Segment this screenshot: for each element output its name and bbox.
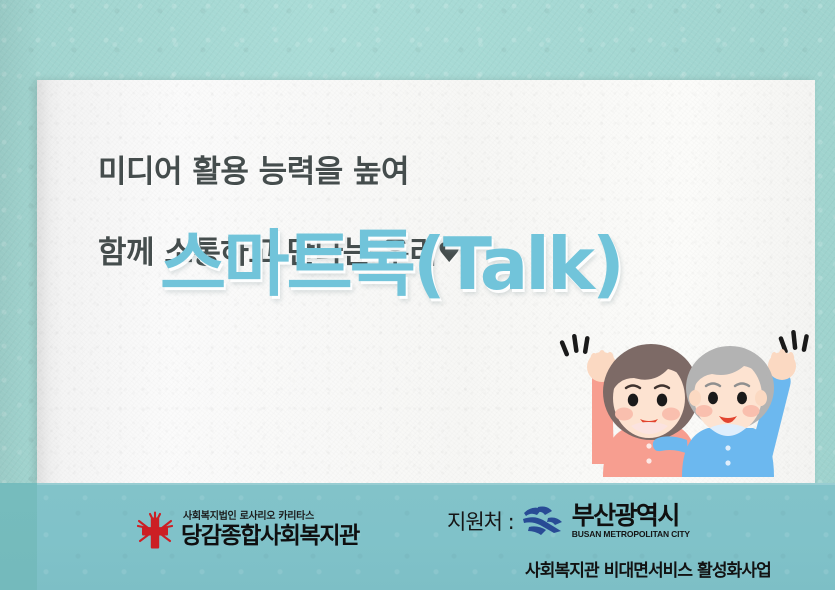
woman-cheek-right	[662, 408, 680, 421]
band-top-highlight	[0, 483, 835, 485]
excitement-lines-left	[559, 334, 590, 357]
man-cheek-left	[696, 405, 713, 417]
man-eye-left	[708, 392, 718, 404]
busan-name-en: BUSAN METROPOLITAN CITY	[572, 530, 690, 539]
woman-eye-right	[657, 394, 667, 407]
elderly-woman-figure	[587, 344, 699, 477]
busan-name-ko: 부산광역시	[572, 503, 690, 528]
sponsor-block: 지원처 : 부산광역시 BUSAN METROPOLITAN CITY	[447, 503, 690, 539]
organization-logo-text: 사회복지법인 로사리오 카리타스 당감종합사회복지관	[181, 512, 359, 548]
sponsor-label: 지원처 :	[447, 506, 514, 536]
poster-canvas: 미디어 활용 능력을 높여 함께 소통하고 만나는 우리♥ 스마트톡(Talk)	[0, 0, 835, 590]
caritas-cross-icon	[137, 511, 173, 549]
organization-name: 당감종합사회복지관	[181, 525, 359, 548]
woman-cheek-left	[615, 408, 633, 421]
organization-prefix: 사회복지법인 로사리오 카리타스	[181, 512, 359, 522]
man-eye-right	[737, 392, 747, 404]
page-title: 스마트톡(Talk)	[160, 228, 622, 300]
man-cheek-right	[743, 405, 760, 417]
program-tagline: 사회복지관 비대면서비스 활성화사업	[525, 556, 771, 581]
busan-city-text: 부산광역시 BUSAN METROPOLITAN CITY	[572, 503, 690, 539]
headline-line-1: 미디어 활용 능력을 높여	[98, 152, 461, 192]
two-elderly-people-waving-illustration	[548, 322, 818, 492]
organization-logo-block: 사회복지법인 로사리오 카리타스 당감종합사회복지관	[137, 511, 359, 549]
woman-eye-left	[628, 394, 638, 407]
busan-city-logo-icon	[521, 504, 565, 538]
band-left-edge	[0, 483, 37, 590]
